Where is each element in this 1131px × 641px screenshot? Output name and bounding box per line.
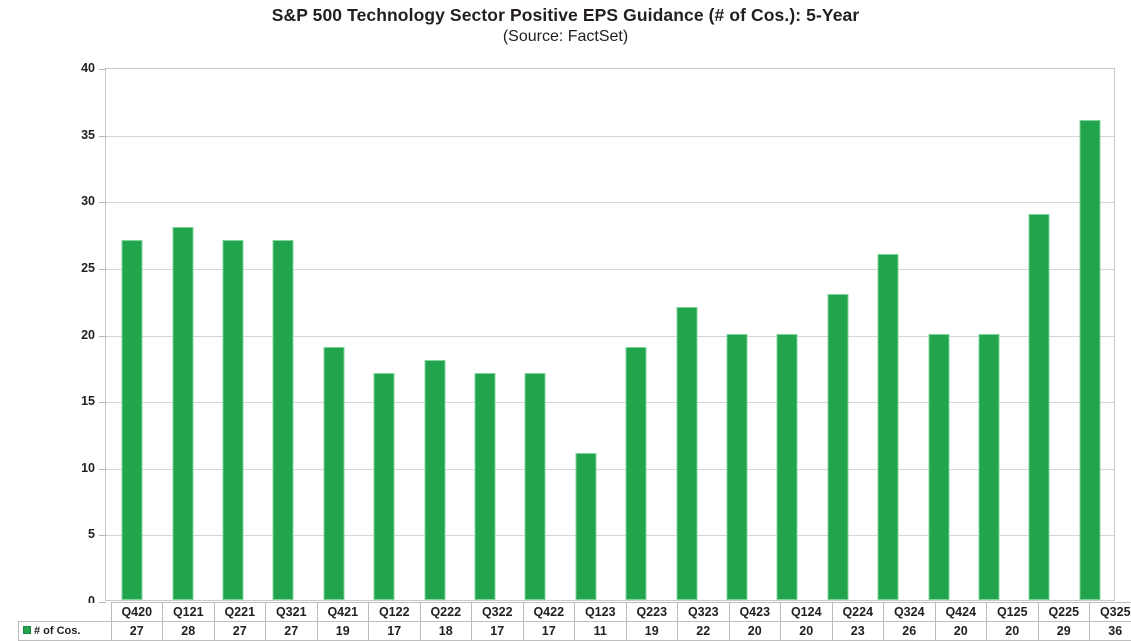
y-axis-tick-label: 10 <box>33 461 95 475</box>
bar[interactable] <box>827 294 848 600</box>
bar-slot <box>460 69 510 600</box>
table-cell-category: Q423 <box>729 603 781 622</box>
bar-slot <box>1014 69 1064 600</box>
bar-slot <box>258 69 308 600</box>
y-axis-tick-label: 25 <box>33 261 95 275</box>
table-cell-category: Q222 <box>420 603 472 622</box>
bar[interactable] <box>928 334 949 601</box>
table-cell-category: Q121 <box>163 603 215 622</box>
bar[interactable] <box>323 347 344 600</box>
y-tick-mark <box>99 136 106 137</box>
table-cell-category: Q325 <box>1090 603 1131 622</box>
table-cell-category: Q123 <box>575 603 627 622</box>
bar-slot <box>107 69 157 600</box>
table-cell-category: Q124 <box>781 603 833 622</box>
chart-subtitle: (Source: FactSet) <box>0 26 1131 48</box>
table-cell-category: Q322 <box>472 603 524 622</box>
bar-slot <box>409 69 459 600</box>
bar[interactable] <box>575 453 596 600</box>
y-tick-mark <box>99 269 106 270</box>
y-tick-mark <box>99 336 106 337</box>
bar[interactable] <box>122 240 143 600</box>
bar-slot <box>611 69 661 600</box>
bar-slot <box>762 69 812 600</box>
bar[interactable] <box>273 240 294 600</box>
y-tick-mark <box>99 402 106 403</box>
table-cell-category: Q324 <box>884 603 936 622</box>
bar-slot <box>913 69 963 600</box>
chart-title: S&P 500 Technology Sector Positive EPS G… <box>0 4 1131 26</box>
legend-label: # of Cos. <box>34 625 80 637</box>
table-cell-category: Q421 <box>317 603 369 622</box>
table-row-categories: Q420Q121Q221Q321Q421Q122Q222Q322Q422Q123… <box>19 603 1131 622</box>
bar-slot <box>510 69 560 600</box>
table-cell-category: Q323 <box>678 603 730 622</box>
table-cell-category: Q424 <box>935 603 987 622</box>
y-tick-mark <box>99 69 106 70</box>
y-axis-tick-label: 15 <box>33 394 95 408</box>
bar-slot <box>813 69 863 600</box>
y-axis-tick-label: 20 <box>33 328 95 342</box>
y-axis-tick-label: 30 <box>33 194 95 208</box>
bar[interactable] <box>978 334 999 601</box>
bar[interactable] <box>878 254 899 600</box>
bar[interactable] <box>374 373 395 600</box>
table-cell-category: Q223 <box>626 603 678 622</box>
bar-slot <box>309 69 359 600</box>
bar[interactable] <box>777 334 798 601</box>
bar[interactable] <box>222 240 243 600</box>
table-cell-category: Q122 <box>369 603 421 622</box>
bar[interactable] <box>1079 120 1100 600</box>
bar-slot <box>359 69 409 600</box>
title-block: S&P 500 Technology Sector Positive EPS G… <box>0 4 1131 48</box>
y-tick-mark <box>99 469 106 470</box>
bar[interactable] <box>726 334 747 601</box>
chart-container: S&P 500 Technology Sector Positive EPS G… <box>0 0 1131 638</box>
table-cell-category: Q224 <box>832 603 884 622</box>
table-cell-category: Q321 <box>266 603 318 622</box>
data-table: Q420Q121Q221Q321Q421Q122Q222Q322Q422Q123… <box>18 602 1131 641</box>
table-cell-category: Q125 <box>987 603 1039 622</box>
y-axis-tick-label: 5 <box>33 527 95 541</box>
bar-slot <box>1065 69 1115 600</box>
bar[interactable] <box>474 373 495 600</box>
bar-slot <box>208 69 258 600</box>
y-axis-tick-label: 40 <box>33 61 95 75</box>
table-cell-category: Q420 <box>111 603 163 622</box>
bar-slot <box>863 69 913 600</box>
y-tick-mark <box>99 535 106 536</box>
bar-slot <box>157 69 207 600</box>
bar-slot <box>561 69 611 600</box>
table-cell-category: Q225 <box>1038 603 1090 622</box>
bar-slot <box>964 69 1014 600</box>
bar-slot <box>712 69 762 600</box>
bar[interactable] <box>525 373 546 600</box>
table-cell-category: Q221 <box>214 603 266 622</box>
legend-spacer <box>19 603 112 622</box>
bar[interactable] <box>172 227 193 600</box>
bar-slot <box>661 69 711 600</box>
legend-swatch-icon <box>23 626 31 634</box>
y-axis-tick-label: 35 <box>33 128 95 142</box>
table-cell-category: Q422 <box>523 603 575 622</box>
y-tick-mark <box>99 202 106 203</box>
bar[interactable] <box>424 360 445 600</box>
bar[interactable] <box>1029 214 1050 600</box>
plot-area <box>105 68 1115 601</box>
bars-layer <box>107 69 1113 600</box>
bar[interactable] <box>626 347 647 600</box>
bar[interactable] <box>676 307 697 600</box>
